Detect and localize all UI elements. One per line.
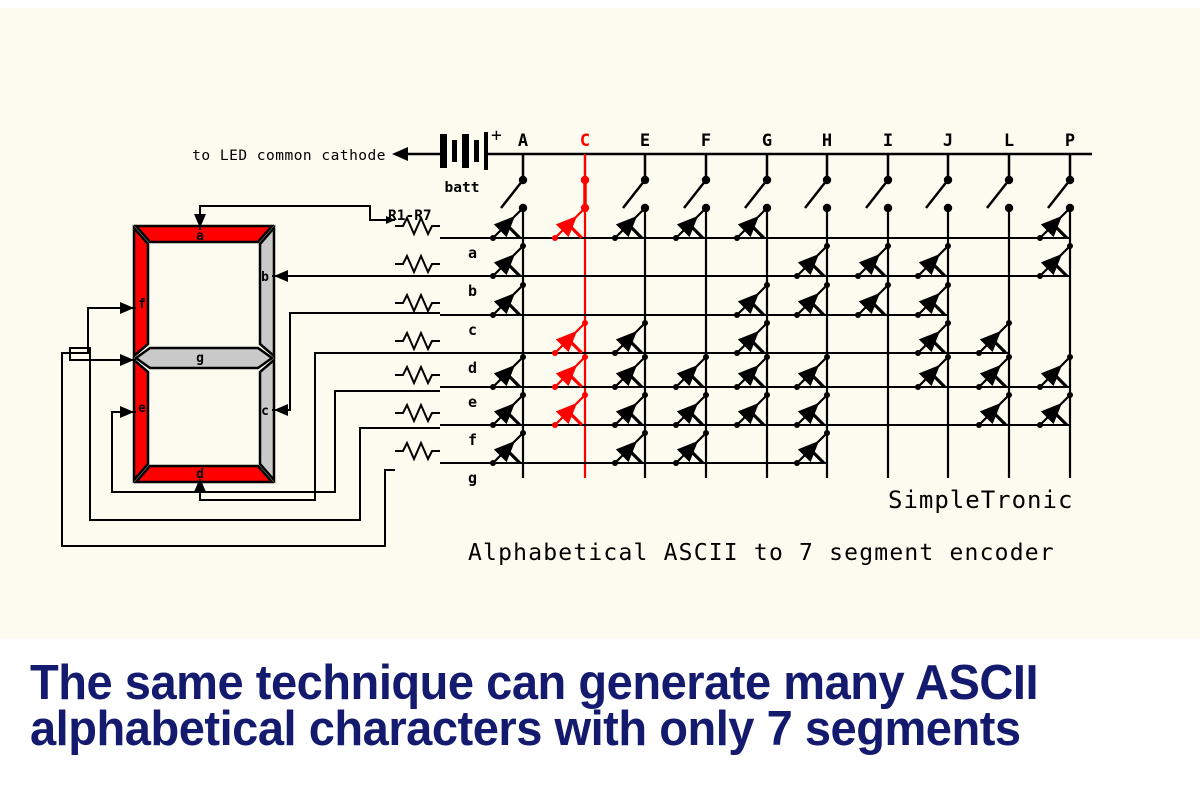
diode-Cf — [552, 392, 588, 428]
diode-anode-node — [855, 312, 861, 318]
cathode-note: to LED common cathode — [192, 148, 386, 164]
segment-label-e: e — [138, 401, 146, 416]
segment-label-g: g — [196, 351, 204, 366]
diode-Eg — [612, 430, 648, 466]
page-root: a b c d e f g — [0, 0, 1200, 800]
diode-anode-node — [734, 422, 740, 428]
diode-anode-node — [552, 422, 558, 428]
diode-anode-node — [915, 350, 921, 356]
caption-line-1: The same technique can generate many ASC… — [30, 660, 1153, 706]
diode-anode-node — [1037, 273, 1043, 279]
resistor-bank: R1-R7 — [388, 208, 440, 459]
diode-Lf — [976, 392, 1012, 428]
diode-anode-node — [734, 312, 740, 318]
diode-cathode-node — [642, 205, 648, 211]
diode-cathode-node — [520, 205, 526, 211]
diode-cathode-node — [520, 430, 526, 436]
diode-Pf — [1037, 392, 1073, 428]
diode-anode-node — [612, 350, 618, 356]
diode-cathode-node — [582, 354, 588, 360]
diode-cathode-node — [642, 392, 648, 398]
switch-blade-J[interactable] — [926, 180, 948, 208]
switch-blade-H[interactable] — [805, 180, 827, 208]
diode-cathode-node — [1067, 243, 1073, 249]
column-label-C: C — [580, 131, 590, 151]
diode-Ff — [673, 392, 709, 428]
diode-cathode-node — [885, 243, 891, 249]
diode-Ab — [490, 243, 526, 279]
resistor-b — [395, 256, 440, 272]
diode-Ge — [734, 354, 770, 390]
switch-blade-L[interactable] — [987, 180, 1009, 208]
diode-anode-node — [915, 312, 921, 318]
diode-Hb — [794, 243, 830, 279]
row-label-d: d — [468, 359, 477, 377]
switch-contact-I-top — [884, 176, 892, 184]
column-label-H: H — [822, 131, 832, 151]
resistor-d — [395, 333, 440, 349]
diode-Ld — [976, 320, 1012, 356]
diode-cathode-node — [582, 205, 588, 211]
switch-blade-F[interactable] — [684, 180, 706, 208]
diode-Hf — [794, 392, 830, 428]
diode-Le — [976, 354, 1012, 390]
segment-g — [136, 348, 272, 368]
switch-contact-G-top — [763, 176, 771, 184]
segment-label-a: a — [196, 229, 204, 244]
diode-anode-node — [794, 460, 800, 466]
diode-cathode-node — [885, 282, 891, 288]
diode-Jb — [915, 243, 951, 279]
diode-anode-node — [734, 384, 740, 390]
diode-Pa — [1037, 205, 1073, 241]
diode-anode-node — [552, 384, 558, 390]
diode-cathode-node — [520, 243, 526, 249]
diode-cathode-node — [824, 354, 830, 360]
battery-label: batt — [445, 180, 480, 196]
column-label-E: E — [640, 131, 650, 151]
switch-contact-L-top — [1005, 176, 1013, 184]
column-label-J: J — [943, 131, 953, 151]
diode-cathode-node — [1006, 392, 1012, 398]
diode-anode-node — [490, 273, 496, 279]
diode-anode-node — [855, 273, 861, 279]
diode-Fg — [673, 430, 709, 466]
diode-anode-node — [794, 384, 800, 390]
diode-Ae — [490, 354, 526, 390]
segment-f — [134, 228, 148, 356]
diode-cathode-node — [703, 354, 709, 360]
diode-cathode-node — [764, 320, 770, 326]
diode-Jd — [915, 320, 951, 356]
diode-anode-node — [673, 384, 679, 390]
resistor-g — [395, 443, 440, 459]
switch-blade-P[interactable] — [1048, 180, 1070, 208]
diode-cathode-node — [764, 354, 770, 360]
diode-anode-node — [552, 235, 558, 241]
row-label-c: c — [468, 321, 477, 339]
segment-label-f: f — [138, 297, 146, 312]
diode-anode-node — [490, 422, 496, 428]
diode-cathode-node — [945, 320, 951, 326]
switch-blade-A[interactable] — [501, 180, 523, 208]
diode-anode-node — [1037, 384, 1043, 390]
segment-e — [134, 360, 148, 480]
diode-Fa — [673, 205, 709, 241]
diode-Ed — [612, 320, 648, 356]
switch-contact-F-top — [702, 176, 710, 184]
diode-anode-node — [552, 350, 558, 356]
diode-Ef — [612, 392, 648, 428]
diode-cathode-node — [520, 354, 526, 360]
diode-anode-node — [490, 460, 496, 466]
diode-anode-node — [734, 235, 740, 241]
diode-anode-node — [1037, 422, 1043, 428]
diode-cathode-node — [703, 430, 709, 436]
brand-label: SimpleTronic — [888, 486, 1073, 514]
diode-anode-node — [612, 422, 618, 428]
diode-cathode-node — [642, 354, 648, 360]
diode-Hg — [794, 430, 830, 466]
diode-Gd — [734, 320, 770, 356]
circuit-diagram-panel: a b c d e f g — [0, 8, 1200, 638]
segment-b — [260, 228, 274, 356]
diode-Aa — [490, 205, 526, 241]
switch-blade-G[interactable] — [745, 180, 767, 208]
diode-anode-node — [612, 384, 618, 390]
switch-contact-P-top — [1066, 176, 1074, 184]
diode-anode-node — [673, 460, 679, 466]
segment-label-b: b — [261, 270, 269, 285]
diode-cathode-node — [520, 282, 526, 288]
diode-Ea — [612, 205, 648, 241]
diode-cathode-node — [582, 392, 588, 398]
diode-Ac — [490, 282, 526, 318]
switch-blade-I[interactable] — [866, 180, 888, 208]
diode-anode-node — [794, 422, 800, 428]
diode-cathode-node — [703, 392, 709, 398]
diode-anode-node — [976, 384, 982, 390]
diode-Ic — [855, 282, 891, 318]
diode-Cd — [552, 320, 588, 356]
segment-d — [136, 466, 272, 482]
segment-a — [136, 226, 272, 242]
circuit-svg: a b c d e f g — [0, 8, 1200, 638]
diode-Ce — [552, 354, 588, 390]
resistor-e — [395, 367, 440, 383]
diode-Ib — [855, 243, 891, 279]
column-label-I: I — [883, 131, 893, 151]
diode-anode-node — [976, 350, 982, 356]
diode-anode-node — [490, 312, 496, 318]
caption-band: The same technique can generate many ASC… — [0, 650, 1200, 762]
diode-Hc — [794, 282, 830, 318]
diode-cathode-node — [520, 392, 526, 398]
diode-Ca — [552, 205, 588, 241]
diode-anode-node — [794, 312, 800, 318]
diode-Ee — [612, 354, 648, 390]
diode-anode-node — [490, 384, 496, 390]
segment-c — [260, 360, 274, 480]
diode-anode-node — [612, 460, 618, 466]
diode-anode-node — [734, 350, 740, 356]
diode-Pe — [1037, 354, 1073, 390]
row-line-layer: abcdefg — [440, 238, 1070, 487]
diode-cathode-node — [1006, 354, 1012, 360]
column-label-P: P — [1065, 131, 1075, 151]
switch-contact-E-top — [641, 176, 649, 184]
diode-cathode-node — [945, 243, 951, 249]
diode-Ga — [734, 205, 770, 241]
diode-anode-node — [976, 422, 982, 428]
diode-cathode-node — [824, 430, 830, 436]
row-label-a: a — [468, 244, 477, 262]
resistor-label: R1-R7 — [388, 208, 432, 224]
diode-Gf — [734, 392, 770, 428]
diode-Af — [490, 392, 526, 428]
column-label-G: G — [762, 131, 772, 151]
switch-contact-J-top — [944, 176, 952, 184]
segment-label-c: c — [261, 404, 269, 419]
diode-cathode-node — [824, 243, 830, 249]
diode-Je — [915, 354, 951, 390]
diode-anode-node — [612, 235, 618, 241]
diode-cathode-node — [1067, 354, 1073, 360]
switch-contact-A-top — [519, 176, 527, 184]
switch-contact-H-top — [823, 176, 831, 184]
column-label-A: A — [518, 131, 528, 151]
column-label-F: F — [701, 131, 711, 151]
row-label-f: f — [468, 431, 477, 449]
diode-cathode-node — [824, 282, 830, 288]
diode-cathode-node — [945, 282, 951, 288]
diode-Jc — [915, 282, 951, 318]
diode-anode-node — [1037, 235, 1043, 241]
diode-cathode-node — [582, 320, 588, 326]
diode-anode-node — [490, 235, 496, 241]
diode-Ag — [490, 430, 526, 466]
diode-anode-node — [673, 235, 679, 241]
diode-cathode-node — [642, 320, 648, 326]
diode-cathode-node — [1067, 392, 1073, 398]
diode-matrix-layer — [490, 205, 1073, 466]
diode-cathode-node — [764, 205, 770, 211]
diode-cathode-node — [945, 354, 951, 360]
diagram-title: Alphabetical ASCII to 7 segment encoder — [468, 540, 1055, 566]
diode-Fe — [673, 354, 709, 390]
diode-Pb — [1037, 243, 1073, 279]
row-label-b: b — [468, 282, 477, 300]
diode-cathode-node — [703, 205, 709, 211]
row-label-e: e — [468, 393, 477, 411]
column-label-L: L — [1004, 131, 1014, 151]
switch-blade-E[interactable] — [623, 180, 645, 208]
diode-cathode-node — [824, 392, 830, 398]
diode-cathode-node — [1006, 320, 1012, 326]
diode-anode-node — [673, 422, 679, 428]
resistor-f — [395, 405, 440, 421]
diode-He — [794, 354, 830, 390]
diode-anode-node — [915, 384, 921, 390]
diode-cathode-node — [642, 430, 648, 436]
seven-segment-display: a b c d e f g — [132, 223, 276, 483]
caption-line-2: alphabetical characters with only 7 segm… — [30, 706, 1153, 752]
switch-contact-C-top — [581, 176, 589, 184]
diode-Gc — [734, 282, 770, 318]
diode-cathode-node — [764, 392, 770, 398]
resistor-c — [395, 295, 440, 311]
diode-anode-node — [915, 273, 921, 279]
diode-cathode-node — [764, 282, 770, 288]
row-label-g: g — [468, 469, 477, 487]
diode-cathode-node — [1067, 205, 1073, 211]
diode-anode-node — [794, 273, 800, 279]
battery-plus: + — [491, 125, 502, 146]
